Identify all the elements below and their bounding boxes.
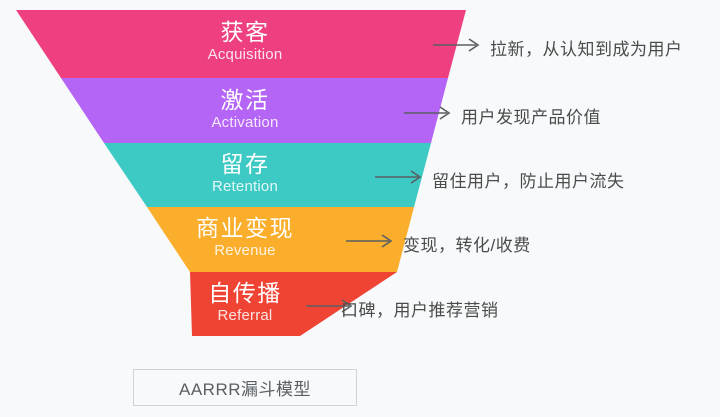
- arrow-icon-acquisition: [432, 36, 484, 54]
- annotation-activation: 用户发现产品价值: [461, 103, 601, 128]
- caption-title: AARRR漏斗模型: [179, 375, 311, 400]
- funnel-band-acquisition: [16, 10, 466, 78]
- annotation-revenue: 变现，转化/收费: [403, 231, 531, 256]
- funnel-diagram: 获客 Acquisition 激活 Activation 留存 Retentio…: [0, 0, 720, 417]
- funnel-shape: [0, 0, 720, 417]
- arrow-icon-activation: [403, 104, 455, 122]
- annotation-acquisition: 拉新，从认知到成为用户: [490, 35, 683, 60]
- annotation-retention: 留住用户，防止用户流失: [432, 167, 625, 192]
- funnel-band-activation: [61, 78, 448, 143]
- annotation-referral: 口碑，用户推荐营销: [341, 296, 499, 321]
- caption-box: AARRR漏斗模型: [133, 369, 357, 406]
- arrow-icon-retention: [374, 168, 426, 186]
- arrow-icon-revenue: [345, 232, 397, 250]
